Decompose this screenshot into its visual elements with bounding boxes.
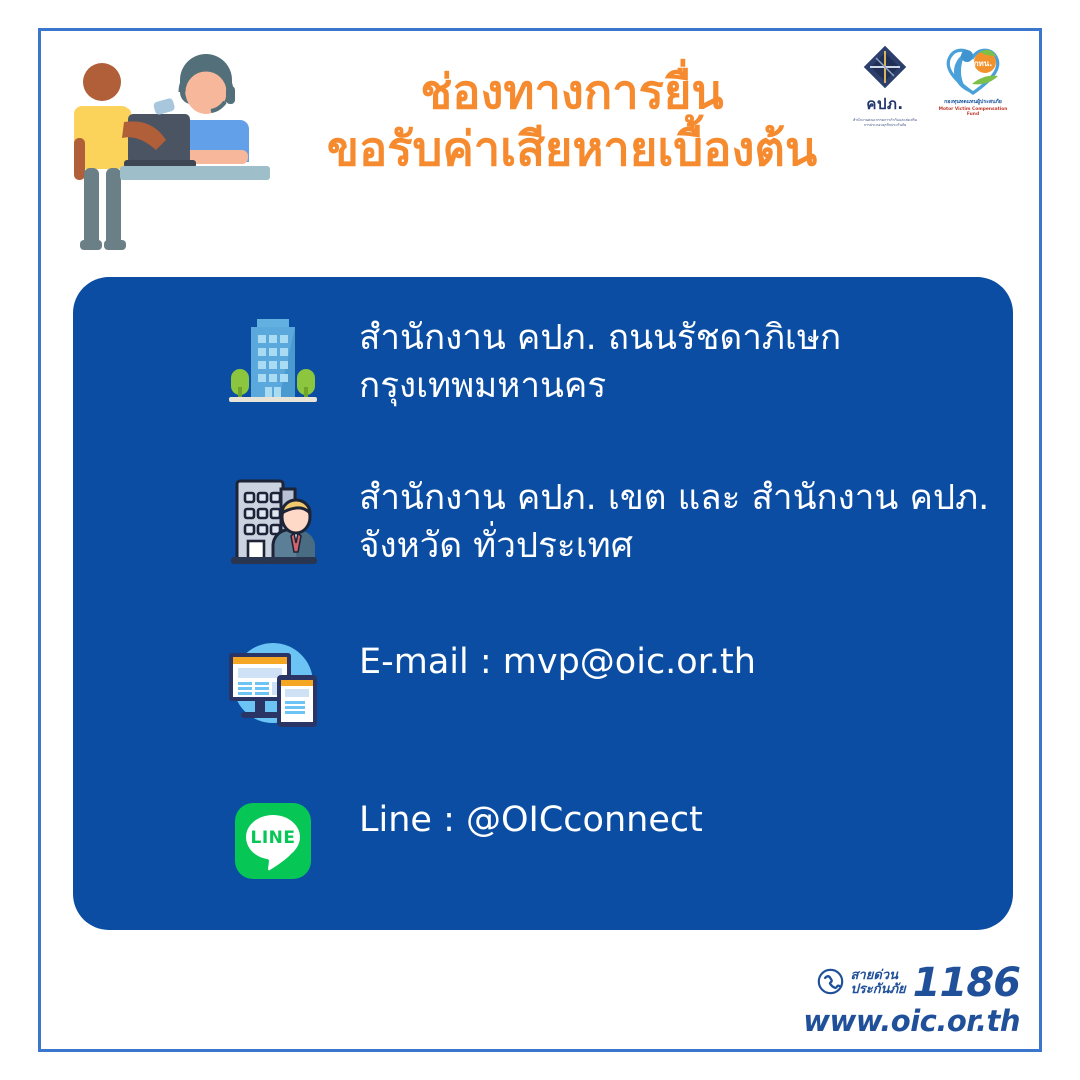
hotline-label-line-2: ประกันภัย xyxy=(851,982,906,997)
office-tower-icon xyxy=(221,307,325,411)
logo-group: คปภ. สำนักงานคณะกรรมการกำกับและส่งเสริมก… xyxy=(852,44,1012,129)
oic-logo: คปภ. สำนักงานคณะกรรมการกำกับและส่งเสริมก… xyxy=(852,44,918,129)
line-app-icon: LINE xyxy=(221,789,325,893)
channel-line: สำนักงาน คปภ. เขต และ สำนักงาน คปภ. xyxy=(359,475,989,523)
channels-card: สำนักงาน คปภ. ถนนรัชดาภิเษก กรุงเทพมหานค… xyxy=(73,277,1013,930)
svg-text:LINE: LINE xyxy=(251,828,296,848)
channel-line: Line : @OICconnect xyxy=(359,797,703,845)
channel-text: สำนักงาน คปภ. ถนนรัชดาภิเษก กรุงเทพมหานค… xyxy=(359,307,841,410)
oic-diamond-icon xyxy=(862,44,908,90)
channel-item-line[interactable]: LINE Line : @OICconnect xyxy=(73,789,1013,915)
page-title: ช่องทางการยื่น ขอรับค่าเสียหายเบื้องต้น xyxy=(292,64,852,179)
hotline-label: สายด่วน ประกันภัย xyxy=(851,969,906,996)
channel-list: สำนักงาน คปภ. ถนนรัชดาภิเษก กรุงเทพมหานค… xyxy=(73,299,1013,915)
channel-item-email[interactable]: E-mail : mvp@oic.or.th xyxy=(73,631,1013,757)
poster-header: ช่องทางการยื่น ขอรับค่าเสียหายเบื้องต้น … xyxy=(42,32,1038,262)
svg-text:กทน.: กทน. xyxy=(974,59,993,68)
fund-name-th: กองทุนทดแทนผู้ประสบภัย xyxy=(934,99,1012,106)
channel-line: สำนักงาน คปภ. ถนนรัชดาภิเษก xyxy=(359,315,841,363)
channel-line: จังหวัด ทั่วประเทศ xyxy=(359,523,989,571)
fund-name-en: Motor Victim Compensation Fund xyxy=(934,107,1012,118)
channel-item-branch-offices[interactable]: สำนักงาน คปภ. เขต และ สำนักงาน คปภ. จังห… xyxy=(73,467,1013,593)
oic-abbreviation: คปภ. xyxy=(852,92,918,116)
computer-tablet-icon xyxy=(221,631,325,735)
phone-icon xyxy=(817,968,844,999)
motor-victim-fund-logo: กทน. กองทุนทดแทนผู้ประสบภัย Motor Victim… xyxy=(934,44,1012,118)
channel-text: สำนักงาน คปภ. เขต และ สำนักงาน คปภ. จังห… xyxy=(359,467,989,570)
channel-item-head-office[interactable]: สำนักงาน คปภ. ถนนรัชดาภิเษก กรุงเทพมหานค… xyxy=(73,307,1013,433)
channel-text: E-mail : mvp@oic.or.th xyxy=(359,631,756,687)
branch-office-officer-icon xyxy=(221,467,325,571)
counter-service-illustration xyxy=(62,50,282,260)
channel-line: E-mail : mvp@oic.or.th xyxy=(359,639,756,687)
fund-heart-icon: กทน. xyxy=(942,44,1004,96)
channel-text: Line : @OICconnect xyxy=(359,789,703,845)
title-line-2: ขอรับค่าเสียหายเบื้องต้น xyxy=(292,121,852,178)
footer-contact: สายด่วน ประกันภัย 1186 www.oic.or.th xyxy=(803,964,1020,1038)
oic-subtitle: สำนักงานคณะกรรมการกำกับและส่งเสริมการประ… xyxy=(852,118,918,129)
channel-line: กรุงเทพมหานคร xyxy=(359,363,841,411)
title-line-1: ช่องทางการยื่น xyxy=(292,64,852,121)
website-url[interactable]: www.oic.or.th xyxy=(803,1004,1020,1038)
hotline-number[interactable]: 1186 xyxy=(913,964,1020,1002)
poster-root: ช่องทางการยื่น ขอรับค่าเสียหายเบื้องต้น … xyxy=(0,0,1080,1080)
